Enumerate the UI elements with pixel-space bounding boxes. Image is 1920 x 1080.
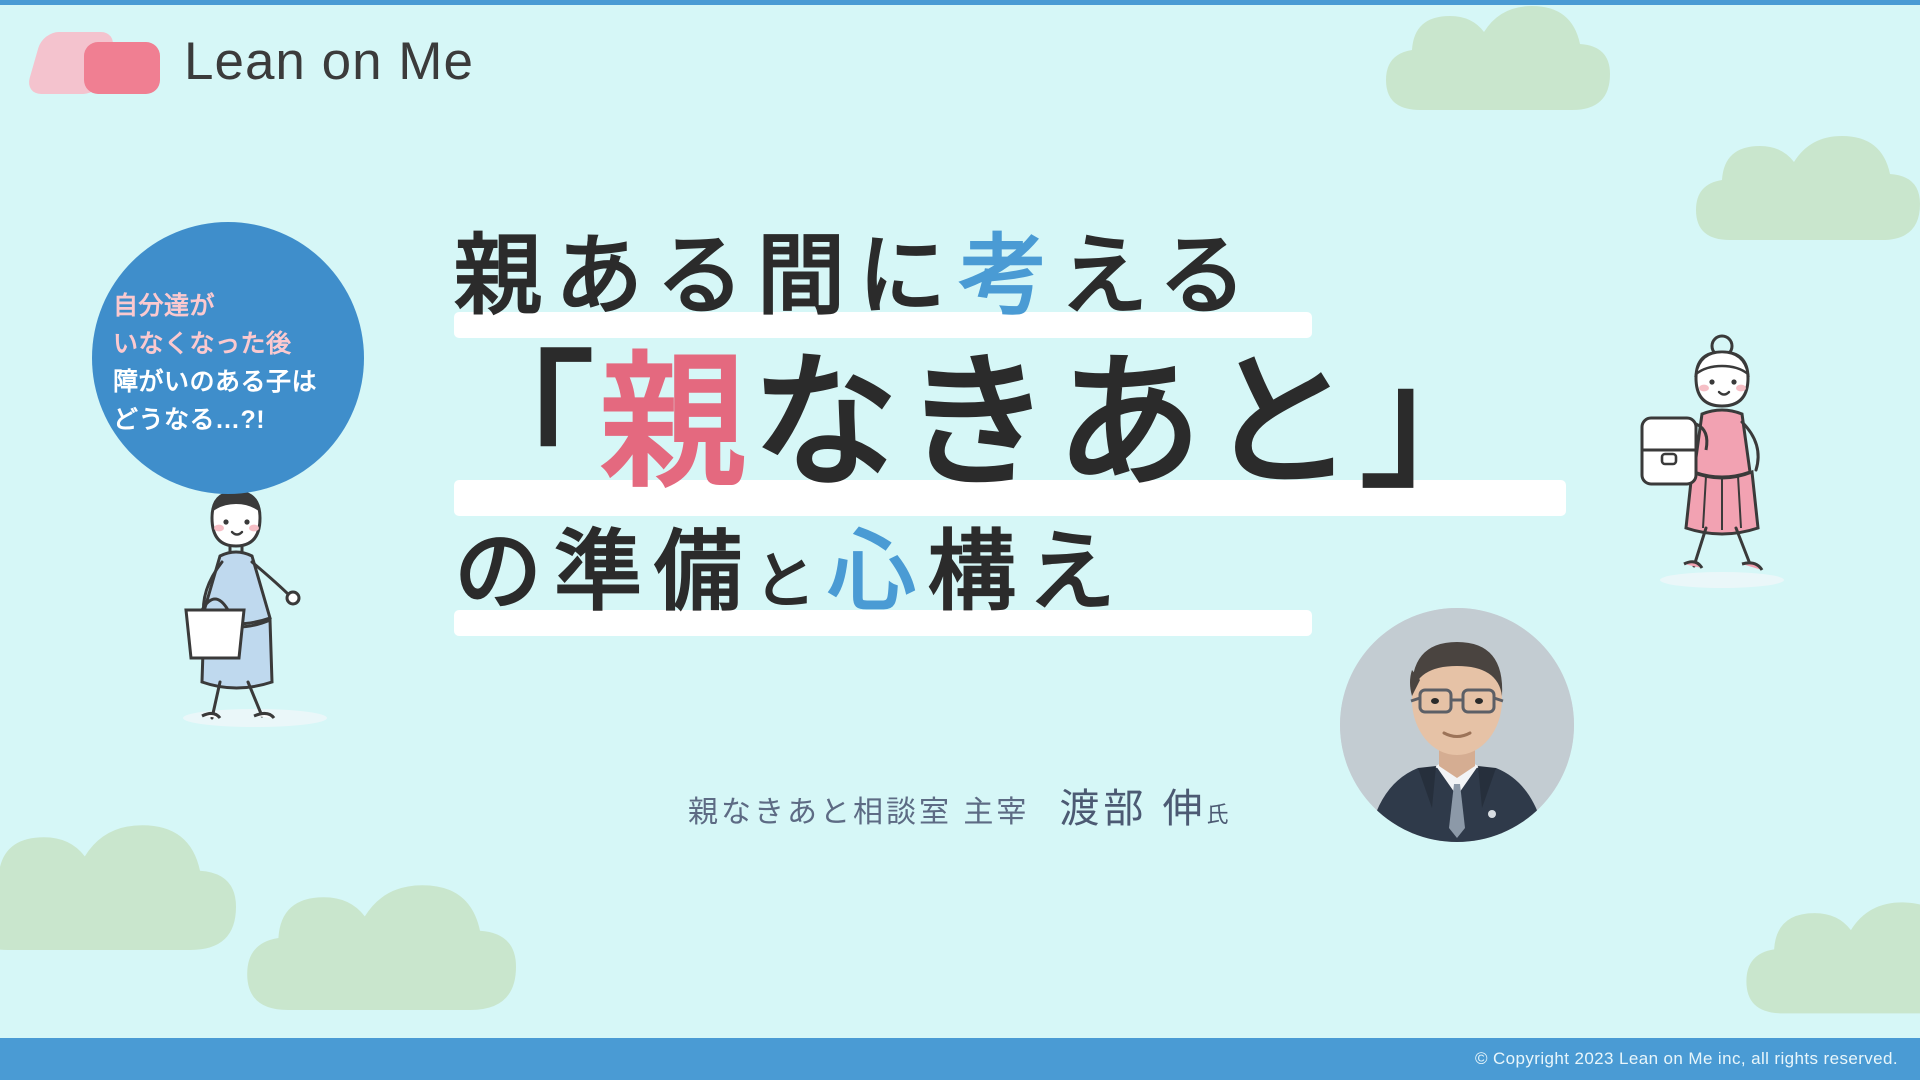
- woman-walking-with-bag-illustration: [150, 470, 360, 730]
- title-seg: なきあと」: [752, 341, 1512, 504]
- bubble-line-1: 自分達が: [113, 287, 343, 325]
- speaker-name-group: 渡部 伸氏: [1059, 776, 1229, 834]
- title-seg: の準備: [454, 522, 754, 621]
- girl-walking-with-backpack-illustration: [1630, 330, 1810, 590]
- brand-name: Lean on Me: [184, 35, 474, 88]
- title-seg: 親ある間に: [454, 226, 959, 325]
- title-line-3-chars: の準備と心構え: [448, 528, 1128, 616]
- lean-on-me-logo-mark-icon: [34, 26, 162, 96]
- brand-logo[interactable]: Lean on Me: [34, 26, 474, 96]
- bubble-line-4: どうなる…?!: [113, 401, 343, 439]
- title-seg: 構え: [928, 522, 1128, 621]
- speaker-credit: 親なきあと相談室 主宰 渡部 伸氏: [688, 776, 1229, 834]
- page-title: 親ある間に考える 「親なきあと」 の準備と心構え: [448, 232, 1588, 640]
- bubble-line-2: いなくなった後: [113, 325, 343, 363]
- title-seg-accent: 心: [828, 522, 928, 621]
- copyright-text: © Copyright 2023 Lean on Me inc, all rig…: [1475, 1049, 1898, 1069]
- slide-canvas: Lean on Me: [0, 0, 1920, 1080]
- cloud-decoration: [1690, 120, 1920, 260]
- title-line-2-chars: 「親なきあと」: [448, 350, 1512, 496]
- cloud-decoration: [240, 860, 600, 1040]
- title-seg-accent: 考: [959, 226, 1060, 325]
- bubble-line-3: 障がいのある子は: [113, 363, 343, 401]
- speaker-organization: 親なきあと相談室 主宰: [688, 787, 1029, 831]
- speaker-name: 渡部 伸: [1059, 787, 1206, 831]
- title-seg: える: [1060, 226, 1259, 325]
- cloud-decoration: [1380, 0, 1680, 130]
- title-seg-accent: 親: [600, 341, 752, 504]
- logo-shape-front: [84, 42, 160, 94]
- footer-bar: © Copyright 2023 Lean on Me inc, all rig…: [0, 1038, 1920, 1080]
- speaker-name-suffix: 氏: [1206, 802, 1229, 827]
- cloud-decoration: [1740, 880, 1920, 1040]
- speaker-portrait: [1340, 608, 1574, 842]
- title-line-1-chars: 親ある間に考える: [448, 232, 1259, 320]
- callout-bubble: 自分達が いなくなった後 障がいのある子は どうなる…?!: [92, 222, 364, 494]
- title-seg-small: と: [754, 547, 828, 616]
- title-seg: 「: [448, 341, 600, 504]
- speaker-portrait-image: [1340, 608, 1574, 842]
- title-line-2: 「親なきあと」: [448, 350, 1588, 522]
- title-line-1: 親ある間に考える: [448, 232, 1588, 340]
